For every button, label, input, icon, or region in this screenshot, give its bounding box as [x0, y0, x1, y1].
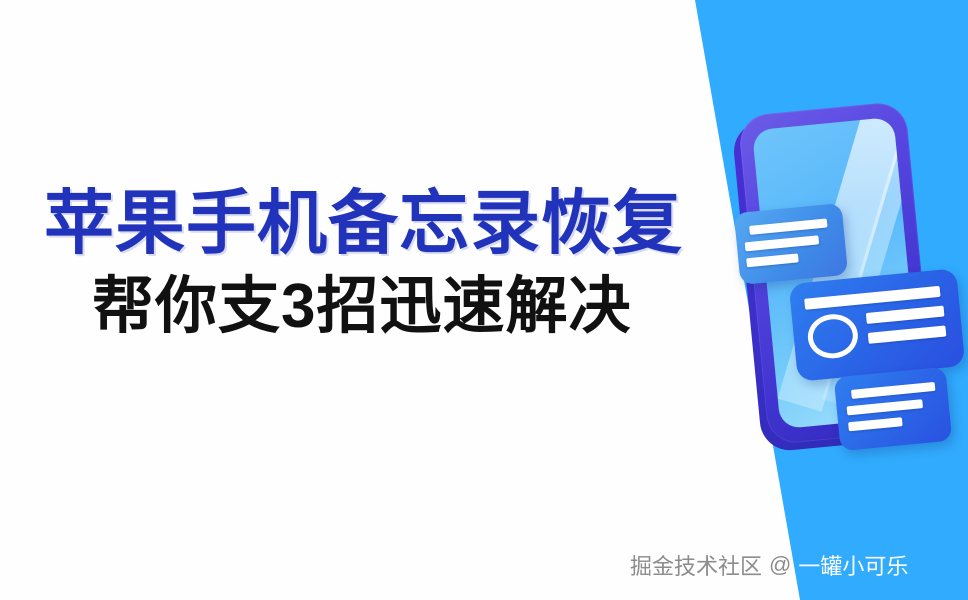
page-title: 苹果手机备忘录恢复 — [44, 186, 724, 260]
text-line-icon — [868, 325, 947, 343]
text-line-icon — [749, 218, 828, 234]
watermark-source: 掘金技术社区 — [630, 549, 762, 581]
message-card-middle — [789, 268, 966, 382]
at-sign-icon: @ — [769, 552, 791, 578]
headline-block: 苹果手机备忘录恢复 帮你支3招迅速解决 — [44, 186, 724, 340]
text-line-icon — [848, 417, 903, 431]
text-line-icon — [746, 253, 799, 267]
poster-canvas: 苹果手机备忘录恢复 帮你支3招迅速解决 — [0, 0, 968, 600]
message-card-bottom — [834, 367, 953, 451]
phone-illustration — [735, 100, 968, 460]
avatar-circle-icon — [806, 312, 860, 361]
text-line-icon — [804, 286, 940, 310]
text-line-icon — [745, 235, 820, 251]
page-subtitle: 帮你支3招迅速解决 — [92, 274, 724, 340]
watermark: 掘金技术社区 @ 一罐小可乐 — [630, 548, 908, 582]
watermark-author: 一罐小可乐 — [798, 549, 908, 581]
text-line-icon — [847, 399, 924, 415]
text-line-icon — [851, 382, 935, 399]
message-card-top — [734, 203, 848, 285]
text-line-icon — [866, 306, 945, 324]
